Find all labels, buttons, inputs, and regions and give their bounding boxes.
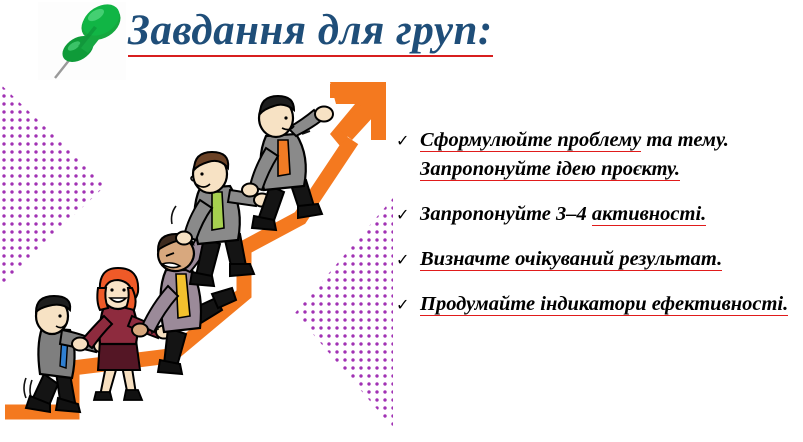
task-list: ✓ Сформулюйте проблему та тему. Запропон… [396,126,796,335]
text-segment: Визначте очікуваний результат. [420,248,722,271]
list-item-text: Запропонуйте 3–4 активності. [420,200,796,229]
text-segment: активності. [592,203,706,226]
text-segment: Продумайте індикатори ефективності. [420,293,788,316]
list-item: ✓ Сформулюйте проблему та тему. Запропон… [396,126,796,184]
checkmark-icon: ✓ [396,200,420,229]
person-2 [72,268,172,400]
list-item-text: Визначте очікуваний результат. [420,245,796,274]
title-text: Завдання для груп: [128,8,493,57]
text-segment: Запропонуйте 3–4 [420,203,592,225]
page-title: Завдання для груп: [128,8,578,57]
team-climbing-illustration [0,78,400,442]
person-5 [242,96,333,230]
list-item: ✓ Визначте очікуваний результат. [396,245,796,274]
text-segment: Сформулюйте проблему [420,129,641,152]
checkmark-icon: ✓ [396,290,420,319]
presentation-slide: Завдання для груп: [0,0,803,442]
checkmark-icon: ✓ [396,126,420,155]
pushpin-icon [38,2,126,80]
list-item-text: Сформулюйте проблему та тему. Запропонуй… [420,126,796,184]
text-segment: та тему. [641,129,729,151]
list-item: ✓ Продумайте індикатори ефективності. [396,290,796,319]
list-item: ✓ Запропонуйте 3–4 активності. [396,200,796,229]
list-item-text: Продумайте індикатори ефективності. [420,290,796,319]
checkmark-icon: ✓ [396,245,420,274]
text-segment: Запропонуйте ідею проєкту. [420,158,680,181]
